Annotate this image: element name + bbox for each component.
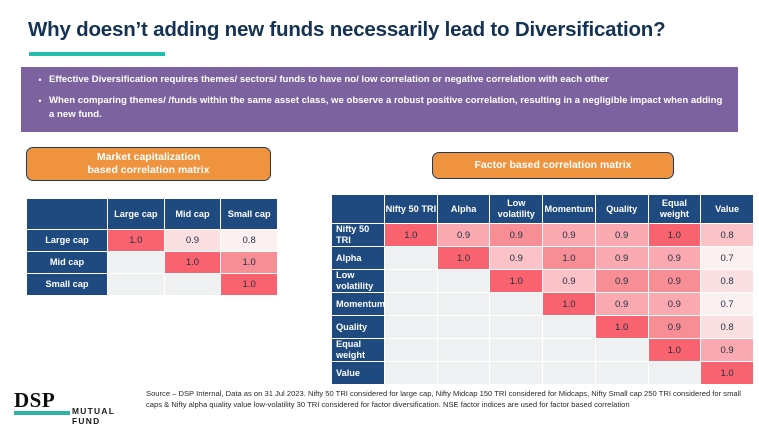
matrix-corner-cell xyxy=(27,199,107,229)
bullet-text: When comparing themes/ /funds within the… xyxy=(49,94,728,121)
matrix-cell: 1.0 xyxy=(649,339,701,361)
matrix-row-label: Equal weight xyxy=(332,339,384,361)
matrix-cell: 0.8 xyxy=(701,316,753,338)
matrix-cell: 0.8 xyxy=(221,230,277,251)
matrix-column-header: Low volatility xyxy=(490,195,542,223)
matrix-cell xyxy=(490,362,542,384)
matrix-cell: 0.9 xyxy=(543,270,595,292)
matrix-cell: 1.0 xyxy=(543,293,595,315)
matrix-cell xyxy=(596,339,648,361)
matrix-cell: 0.9 xyxy=(490,224,542,246)
matrix-cell xyxy=(438,270,490,292)
matrix-cell: 0.9 xyxy=(596,270,648,292)
matrix-cell: 1.0 xyxy=(701,362,753,384)
badge-label: Market capitalization based correlation … xyxy=(88,151,210,178)
matrix-cell: 0.8 xyxy=(701,224,753,246)
matrix-row-label: Large cap xyxy=(27,230,107,251)
matrix-row: Nifty 50 TRI1.00.90.90.90.91.00.8 xyxy=(332,224,753,246)
bullet-item: • Effective Diversification requires the… xyxy=(31,73,728,87)
matrix-cell xyxy=(490,293,542,315)
matrix-cell: 0.9 xyxy=(596,293,648,315)
matrix-cell: 0.9 xyxy=(649,247,701,269)
matrix-cell xyxy=(438,293,490,315)
matrix-cell xyxy=(543,339,595,361)
matrix-cell xyxy=(490,339,542,361)
matrix-cell: 0.9 xyxy=(438,224,490,246)
matrix-corner-cell xyxy=(332,195,384,223)
matrix-row: Large cap1.00.90.8 xyxy=(27,230,277,251)
matrix-row: Quality1.00.90.8 xyxy=(332,316,753,338)
matrix-row-label: Nifty 50 TRI xyxy=(332,224,384,246)
matrix-cell: 1.0 xyxy=(490,270,542,292)
matrix-cell: 1.0 xyxy=(385,224,437,246)
matrix-row-label: Mid cap xyxy=(27,252,107,273)
matrix-cell xyxy=(108,252,164,273)
matrix-body: Large capMid capSmall capLarge cap1.00.9… xyxy=(27,199,277,295)
matrix-row: Alpha1.00.91.00.90.90.7 xyxy=(332,247,753,269)
matrix-cell xyxy=(438,316,490,338)
matrix-column-header: Equal weight xyxy=(649,195,701,223)
matrix-cell xyxy=(490,316,542,338)
matrix-cell xyxy=(649,362,701,384)
matrix-cell xyxy=(385,339,437,361)
matrix-cell: 0.9 xyxy=(649,270,701,292)
matrix-cell: 0.9 xyxy=(165,230,221,251)
market-cap-correlation-matrix: Large capMid capSmall capLarge cap1.00.9… xyxy=(26,198,278,296)
matrix-column-header: Mid cap xyxy=(165,199,221,229)
badge-label-line1: Market capitalization xyxy=(97,151,200,163)
matrix-cell: 0.7 xyxy=(701,293,753,315)
matrix-body: Nifty 50 TRIAlphaLow volatilityMomentumQ… xyxy=(332,195,753,384)
matrix-cell: 0.8 xyxy=(701,270,753,292)
matrix-row: Mid cap1.01.0 xyxy=(27,252,277,273)
matrix-cell: 0.9 xyxy=(596,247,648,269)
matrix-cell: 1.0 xyxy=(438,247,490,269)
matrix-column-header: Large cap xyxy=(108,199,164,229)
dsp-logo: DSP MUTUAL FUND xyxy=(14,390,126,422)
matrix-cell xyxy=(385,316,437,338)
matrix-cell xyxy=(543,362,595,384)
badge-label: Factor based correlation matrix xyxy=(475,159,632,173)
matrix-cell xyxy=(438,362,490,384)
matrix-cell: 0.9 xyxy=(543,224,595,246)
matrix-row-label: Momentum xyxy=(332,293,384,315)
bullet-dot-icon: • xyxy=(31,94,49,108)
source-note: Source – DSP Internal, Data as on 31 Jul… xyxy=(146,389,751,410)
matrix-cell xyxy=(543,316,595,338)
matrix-column-header: Small cap xyxy=(221,199,277,229)
matrix-cell xyxy=(596,362,648,384)
matrix-cell: 1.0 xyxy=(165,252,221,273)
matrix-cell: 0.9 xyxy=(701,339,753,361)
matrix-cell: 1.0 xyxy=(108,230,164,251)
title-accent-rule xyxy=(29,52,165,56)
page-title: Why doesn’t adding new funds necessarily… xyxy=(28,18,665,42)
matrix-column-header: Value xyxy=(701,195,753,223)
matrix-cell xyxy=(438,339,490,361)
matrix-row: Value1.0 xyxy=(332,362,753,384)
matrix-cell xyxy=(108,274,164,295)
matrix-cell: 0.9 xyxy=(490,247,542,269)
matrix-cell xyxy=(385,293,437,315)
matrix-cell xyxy=(385,362,437,384)
matrix-header-row: Large capMid capSmall cap xyxy=(27,199,277,229)
matrix-row: Low volatility1.00.90.90.90.8 xyxy=(332,270,753,292)
matrix-column-header: Momentum xyxy=(543,195,595,223)
bullet-item: • When comparing themes/ /funds within t… xyxy=(31,94,728,121)
bullet-text: Effective Diversification requires theme… xyxy=(49,73,728,87)
matrix-row-label: Alpha xyxy=(332,247,384,269)
matrix-column-header: Quality xyxy=(596,195,648,223)
matrix-cell: 0.7 xyxy=(701,247,753,269)
matrix-row-label: Quality xyxy=(332,316,384,338)
matrix-cell xyxy=(165,274,221,295)
matrix-cell: 1.0 xyxy=(221,252,277,273)
matrix-cell: 1.0 xyxy=(221,274,277,295)
market-cap-matrix-badge: Market capitalization based correlation … xyxy=(26,147,271,181)
matrix-cell: 0.9 xyxy=(649,293,701,315)
matrix-row: Small cap1.0 xyxy=(27,274,277,295)
matrix-cell: 0.9 xyxy=(596,224,648,246)
matrix-row: Momentum1.00.90.90.7 xyxy=(332,293,753,315)
badge-label-line2: based correlation matrix xyxy=(88,164,210,176)
matrix-cell: 1.0 xyxy=(543,247,595,269)
matrix-header-row: Nifty 50 TRIAlphaLow volatilityMomentumQ… xyxy=(332,195,753,223)
matrix-cell: 1.0 xyxy=(596,316,648,338)
bullet-dot-icon: • xyxy=(31,73,49,87)
factor-correlation-matrix: Nifty 50 TRIAlphaLow volatilityMomentumQ… xyxy=(331,194,754,385)
matrix-cell xyxy=(385,247,437,269)
key-points-callout: • Effective Diversification requires the… xyxy=(21,67,738,132)
matrix-cell: 0.9 xyxy=(649,316,701,338)
matrix-row-label: Small cap xyxy=(27,274,107,295)
matrix-column-header: Alpha xyxy=(438,195,490,223)
matrix-row-label: Value xyxy=(332,362,384,384)
factor-matrix-badge: Factor based correlation matrix xyxy=(432,152,674,179)
matrix-cell: 1.0 xyxy=(649,224,701,246)
matrix-column-header: Nifty 50 TRI xyxy=(385,195,437,223)
logo-subtitle: MUTUAL FUND xyxy=(72,406,126,426)
matrix-row-label: Low volatility xyxy=(332,270,384,292)
matrix-cell xyxy=(385,270,437,292)
matrix-row: Equal weight1.00.9 xyxy=(332,339,753,361)
